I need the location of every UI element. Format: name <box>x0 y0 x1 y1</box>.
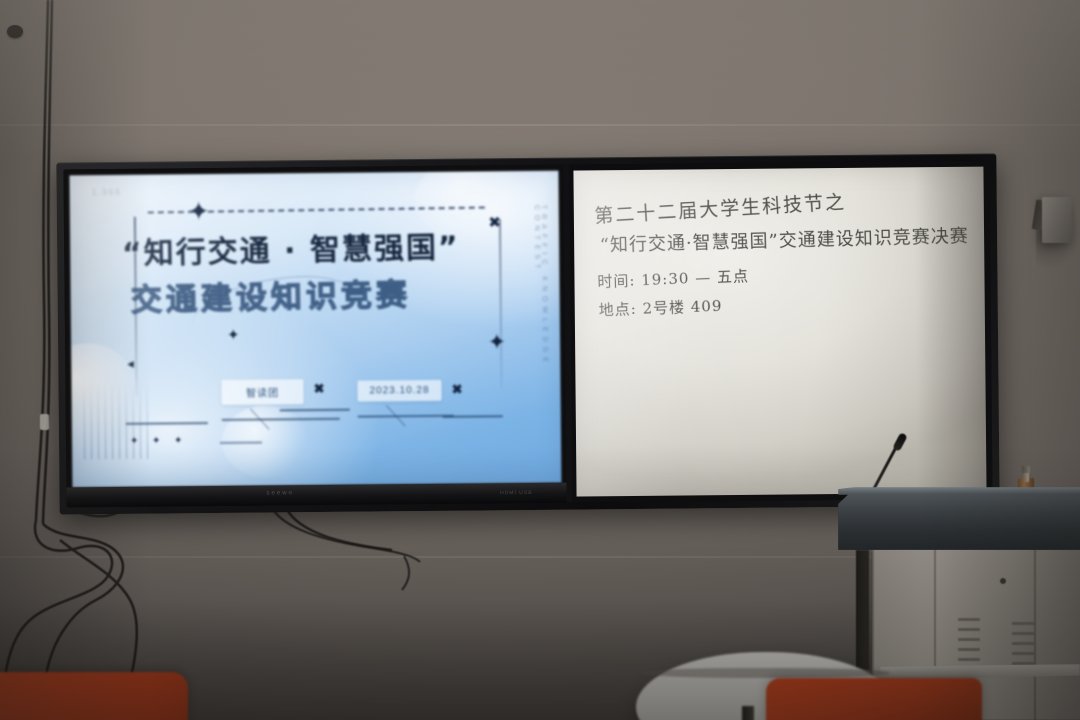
streak-decoration <box>83 381 154 460</box>
smart-display[interactable]: 1.966 TRAFFIC KNOWLEDGE CONTEST ✦ ✖ ✦ ◂ … <box>63 165 572 508</box>
slide-title-block: “知行交通 · 智慧强国” 交通建设知识竞赛 <box>122 221 521 320</box>
podium-vent-slot <box>1012 652 1034 655</box>
podium-desktop-edge <box>838 487 1080 495</box>
podium-panel-seam-2 <box>1034 548 1036 720</box>
screen-watermark: 1.966 <box>92 187 122 197</box>
wall-speaker <box>1042 197 1072 243</box>
sparkle-icon-chip-right: ✖ <box>452 382 464 398</box>
wall-seam-upper <box>0 124 1080 126</box>
slide-chip-organizer: 智读团 ✖ <box>221 379 303 405</box>
podium-vent-slot <box>1012 622 1034 625</box>
display-port-labels: HDMI USB <box>500 490 533 496</box>
orange-chair-left <box>0 672 188 720</box>
display-bottom-bezel: seewo HDMI USB <box>66 483 566 508</box>
slide-title-line2: 交通建设知识竞赛 <box>130 267 520 320</box>
slide-chip-row: 智读团 ✖ 2023.10.28 ✖ <box>221 378 441 405</box>
podium-vent-slot <box>958 618 980 621</box>
sparkle-icon-right: ✦ <box>488 331 507 353</box>
whiteboard-surface[interactable]: 第二十二届大学生科技节之 “知行交通·智慧强国”交通建设知识竞赛决赛 时间: 1… <box>573 167 986 497</box>
slide-dash-bottom-left <box>126 422 208 425</box>
sparkle-icon-mid: ✦ <box>227 328 240 343</box>
podium-leg-front <box>856 550 869 670</box>
podium-desktop[interactable] <box>838 488 1080 550</box>
podium-vent-slot <box>1012 662 1034 665</box>
wall-anchor-hole <box>7 25 23 38</box>
sparkle-icon-chip-left: ✖ <box>314 381 326 397</box>
slide-dash-tiny <box>220 442 262 444</box>
display-brand-logo: seewo <box>266 490 293 496</box>
slide-dash-bottom-mid <box>280 409 350 412</box>
chip-underline-right <box>358 415 454 418</box>
slide-chip-organizer-label: 智读团 <box>246 388 279 399</box>
podium-vent-slot <box>958 648 980 651</box>
round-table-edge <box>640 668 890 678</box>
podium-vent-slot <box>1012 632 1034 635</box>
slide-vertical-decor: TRAFFIC KNOWLEDGE CONTEST <box>533 205 549 415</box>
podium-vent-slot <box>958 628 980 631</box>
slide-chip-date: 2023.10.28 ✖ <box>357 380 441 402</box>
sparkle-icon-bottom-1: ✦ <box>130 437 138 447</box>
podium-vent-slot <box>958 658 980 661</box>
display-screen[interactable]: 1.966 TRAFFIC KNOWLEDGE CONTEST ✦ ✖ ✦ ◂ … <box>69 171 561 488</box>
podium-vent-slot <box>958 638 980 641</box>
whiteboard-shadow <box>913 167 986 494</box>
sparkle-icon-left: ◂ <box>127 357 134 370</box>
orange-chair-right <box>766 678 982 720</box>
podium-lock-knob[interactable] <box>1000 578 1006 584</box>
bottle-cap <box>1022 466 1030 473</box>
sparkle-icon-top: ✦ <box>188 198 210 224</box>
board-inner: 1.966 TRAFFIC KNOWLEDGE CONTEST ✦ ✖ ✦ ◂ … <box>63 161 992 508</box>
sparkle-icon-bottom-3: ✦ <box>174 436 182 446</box>
board-assembly-frame: 1.966 TRAFFIC KNOWLEDGE CONTEST ✦ ✖ ✦ ◂ … <box>56 153 999 514</box>
whiteboard-panel[interactable]: 第二十二届大学生科技节之 “知行交通·智慧强国”交通建设知识竞赛决赛 时间: 1… <box>569 161 992 503</box>
podium-vent-slot <box>1012 642 1034 645</box>
slide-chip-date-label: 2023.10.28 <box>369 385 429 397</box>
bottle-neck <box>1023 472 1029 482</box>
round-table-leg <box>742 706 754 720</box>
chip-underline-left <box>222 418 340 421</box>
classroom-scene: 1.966 TRAFFIC KNOWLEDGE CONTEST ✦ ✖ ✦ ◂ … <box>0 0 1080 720</box>
sparkle-icon-bottom-2: ✦ <box>152 437 160 447</box>
slide-title-line1: “知行交通 · 智慧强国” <box>122 221 520 273</box>
